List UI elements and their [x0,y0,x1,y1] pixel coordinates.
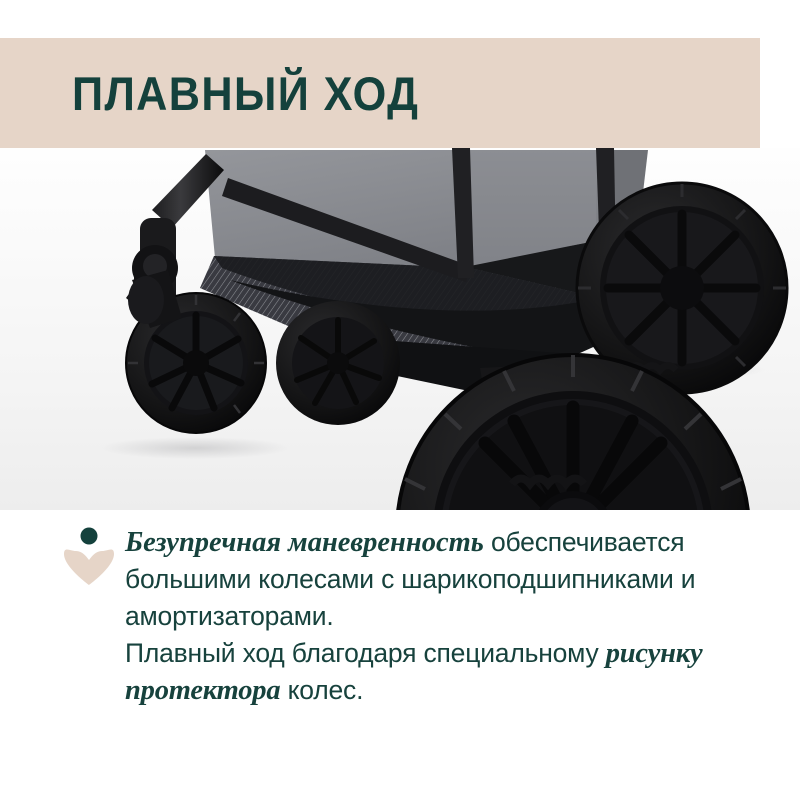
header-banner: ПЛАВНЫЙ ХОД [0,38,760,148]
stroller-illustration: chicco [0,148,800,510]
product-photo: chicco [0,148,800,510]
page-title: ПЛАВНЫЙ ХОД [72,70,419,117]
feature-copy: Безупречная маневренность обеспечивается… [125,524,745,709]
lead-phrase: Безупречная маневренность [125,527,484,558]
copy-line-2: шарикоподшипниками и [401,564,695,594]
bullet-heart-icon [64,549,114,585]
promo-page: ПЛАВНЫЙ ХОД [0,0,800,800]
copy-line-3: амортизаторами. [125,601,334,631]
bullet-dot-icon [81,528,98,545]
copy-line-5: колес. [280,675,363,705]
paragraph-2: Плавный ход благодаря специальному рисун… [125,635,745,709]
baby-heart-bullet-icon [62,527,116,589]
feature-description-block: Безупречная маневренность обеспечивается… [0,510,800,760]
copy-line-4: Плавный ход благодаря специальному [125,638,599,668]
paragraph-1: Безупречная маневренность обеспечивается… [125,524,745,635]
wheel-mid-far [276,301,400,425]
